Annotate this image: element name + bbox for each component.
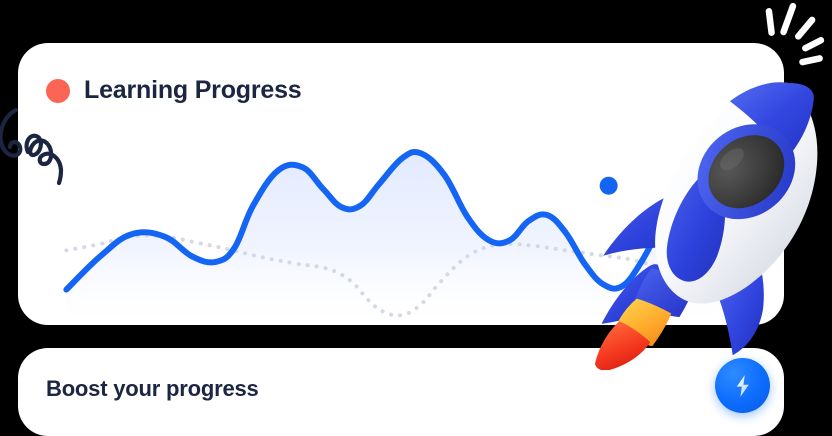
card-header: Learning Progress [46,76,302,105]
sparkle-rays-icon [752,0,832,72]
boost-title: Boost your progress [46,376,259,402]
page-title: Learning Progress [84,76,302,105]
screenshot-stage: Learning Progress Boost your progress [0,0,832,436]
squiggle-doodle-icon [0,108,94,188]
rocket-illustration-icon [588,70,832,370]
status-dot-icon [46,79,70,103]
lightning-bolt-icon [730,373,756,399]
